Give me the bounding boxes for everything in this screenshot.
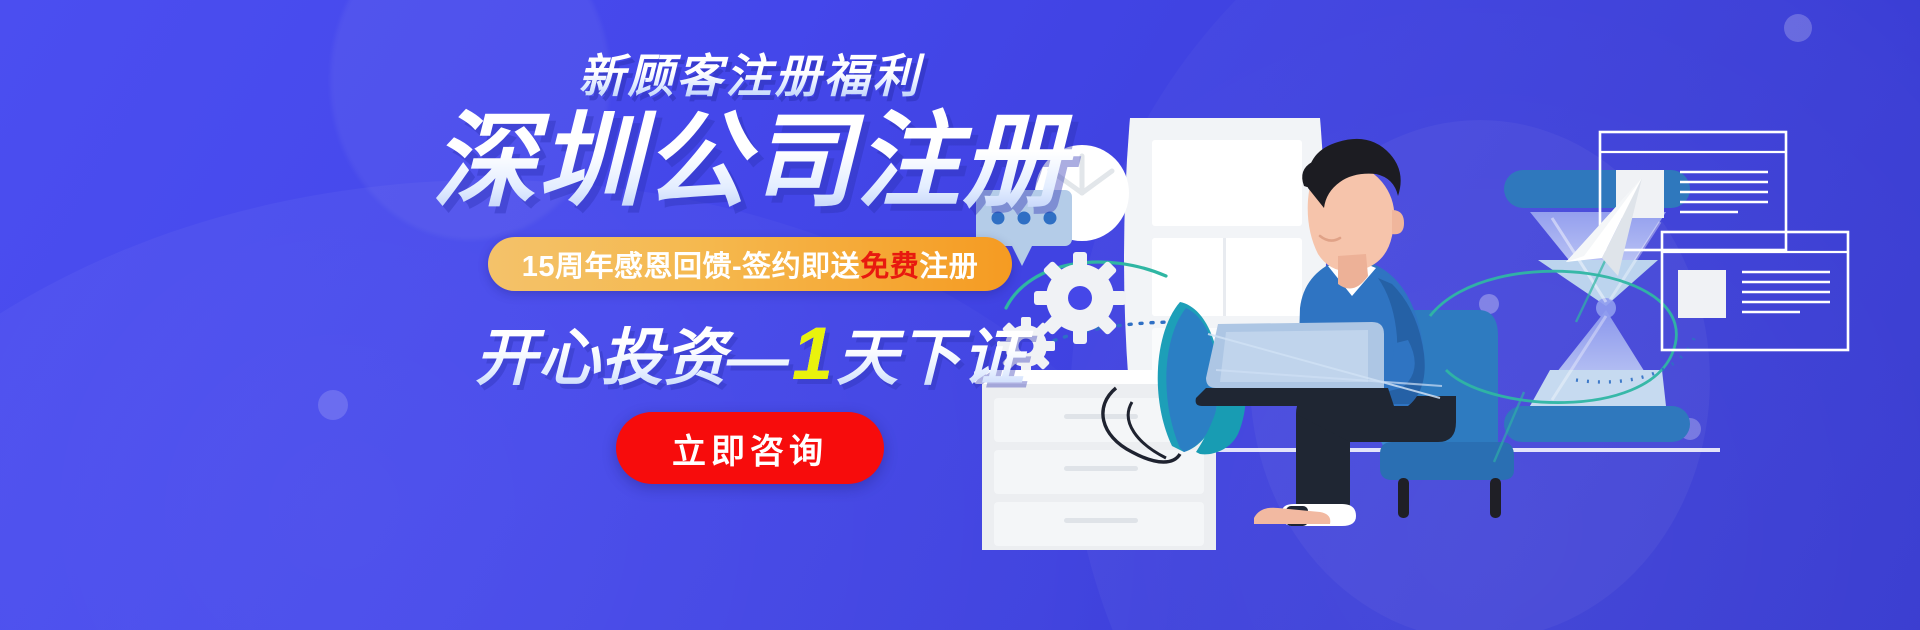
banner-eyebrow: 新顾客注册福利 (400, 52, 1100, 100)
promo-badge: 15周年感恩回馈-签约即送免费注册 (488, 237, 1012, 291)
promo-banner: 新顾客注册福利 深圳公司注册 15周年感恩回馈-签约即送免费注册 开心投资—1天… (0, 0, 1920, 630)
banner-copy: 新顾客注册福利 深圳公司注册 15周年感恩回馈-签约即送免费注册 开心投资—1天… (400, 52, 1100, 484)
subline-after: 天下证 (836, 324, 1025, 393)
hero-illustration (1020, 70, 1900, 550)
promo-badge-suffix: 注册 (919, 243, 978, 285)
subline-number: 1 (790, 312, 836, 395)
banner-headline: 深圳公司注册 (400, 106, 1100, 218)
promo-badge-highlight: 免费 (860, 243, 919, 285)
consult-now-button[interactable]: 立即咨询 (616, 412, 884, 484)
decorative-dot (1784, 14, 1812, 42)
subline-before: 开心投资— (475, 324, 790, 393)
decorative-dot (318, 390, 348, 420)
laptop (1196, 322, 1394, 406)
banner-subline: 开心投资—1天下证 (400, 313, 1100, 394)
promo-badge-prefix: 15周年感恩回馈-签约即送 (522, 243, 860, 285)
